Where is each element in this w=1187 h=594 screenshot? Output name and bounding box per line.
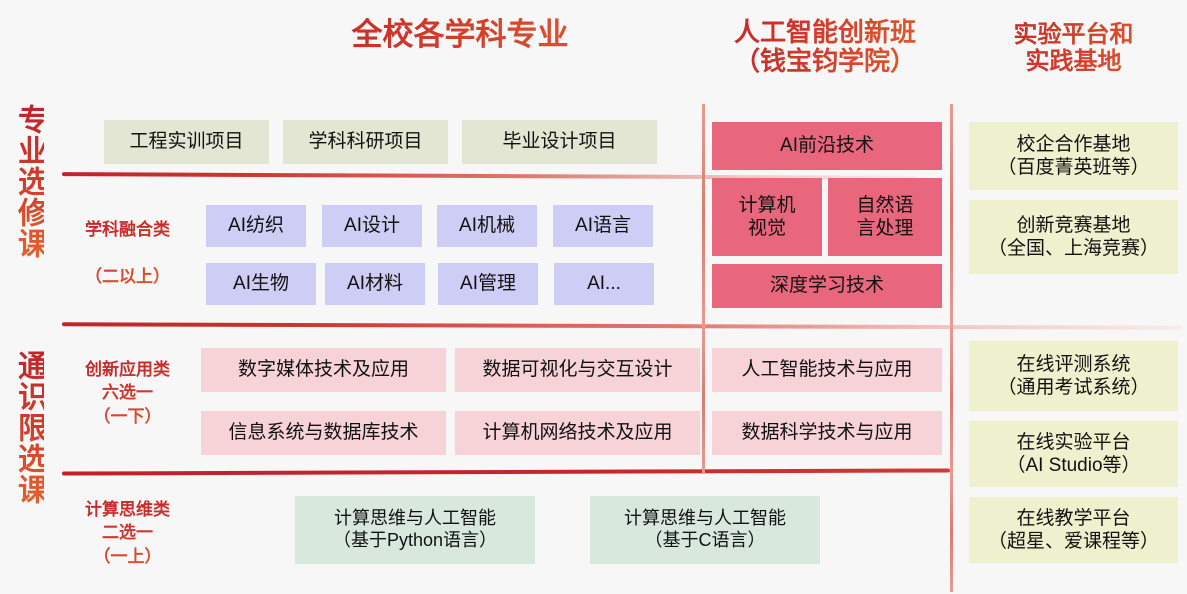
vertical-divider-left-middle <box>702 326 705 474</box>
vertical-divider-right-lower <box>950 474 953 592</box>
card-ai-class-2[interactable]: 自然语 言处理 <box>828 178 942 256</box>
card-platform-4[interactable]: 在线教学平台 （超星、爱课程等） <box>969 497 1178 563</box>
card-fusion-0[interactable]: AI纺织 <box>206 205 306 247</box>
column-title-all-disciplines: 全校各学科专业 <box>250 18 670 53</box>
column-title-ai-innovation-class: 人工智能创新班 （钱宝钧学院） <box>700 18 950 76</box>
card-fusion-3[interactable]: AI语言 <box>553 205 653 247</box>
card-project-0[interactable]: 工程实训项目 <box>104 120 269 164</box>
card-innovation-1[interactable]: 数据可视化与交互设计 <box>455 348 700 392</box>
side-label-general-elective: 通识限选课 <box>4 350 44 505</box>
card-fusion-4[interactable]: AI生物 <box>206 263 316 305</box>
card-platform-1[interactable]: 创新竞赛基地 （全国、上海竞赛） <box>969 200 1178 274</box>
horizontal-divider-3 <box>62 468 950 475</box>
card-project-1[interactable]: 学科科研项目 <box>283 120 448 164</box>
card-platform-3[interactable]: 在线实验平台 （AI Studio等） <box>969 421 1178 487</box>
card-ai-class-3[interactable]: 深度学习技术 <box>712 264 942 308</box>
row-label-discipline-fusion: 学科融合类 （二以上） <box>60 218 195 288</box>
card-innovation-0[interactable]: 数字媒体技术及应用 <box>201 348 446 392</box>
column-title-platform-base: 实验平台和 实践基地 <box>960 22 1187 76</box>
card-fusion-2[interactable]: AI机械 <box>437 205 537 247</box>
card-fusion-1[interactable]: AI设计 <box>322 205 422 247</box>
card-platform-2[interactable]: 在线评测系统 （通用考试系统） <box>969 341 1178 411</box>
card-ai-class-1[interactable]: 计算机 视觉 <box>712 178 822 256</box>
card-innovation-2[interactable]: 信息系统与数据库技术 <box>201 411 446 455</box>
card-ai-innovation-1[interactable]: 数据科学技术与应用 <box>712 411 942 455</box>
diagram-canvas: 全校各学科专业 人工智能创新班 （钱宝钧学院） 实验平台和 实践基地 专业选修课… <box>0 0 1187 594</box>
card-fusion-6[interactable]: AI管理 <box>438 263 538 305</box>
card-thinking-1[interactable]: 计算思维与人工智能 （基于C语言） <box>590 496 820 564</box>
vertical-divider-right-upper <box>950 104 953 326</box>
card-innovation-3[interactable]: 计算机网络技术及应用 <box>455 411 700 455</box>
row-label-innovation-application: 创新应用类 六选一 （一下） <box>60 358 195 428</box>
vertical-divider-left-upper <box>702 104 705 326</box>
card-fusion-5[interactable]: AI材料 <box>325 263 425 305</box>
side-label-major-elective: 专业选修课 <box>4 104 44 259</box>
card-fusion-7[interactable]: AI... <box>554 263 654 305</box>
card-ai-class-0[interactable]: AI前沿技术 <box>712 122 942 170</box>
vertical-divider-right-middle <box>950 326 953 474</box>
card-ai-innovation-0[interactable]: 人工智能技术与应用 <box>712 348 942 392</box>
card-project-2[interactable]: 毕业设计项目 <box>462 120 657 164</box>
card-platform-0[interactable]: 校企合作基地 （百度菁英班等） <box>969 122 1178 190</box>
row-label-computational-thinking: 计算思维类 二选一 （一上） <box>60 498 195 568</box>
horizontal-divider-2 <box>62 322 1182 330</box>
card-thinking-0[interactable]: 计算思维与人工智能 （基于Python语言） <box>295 496 535 564</box>
